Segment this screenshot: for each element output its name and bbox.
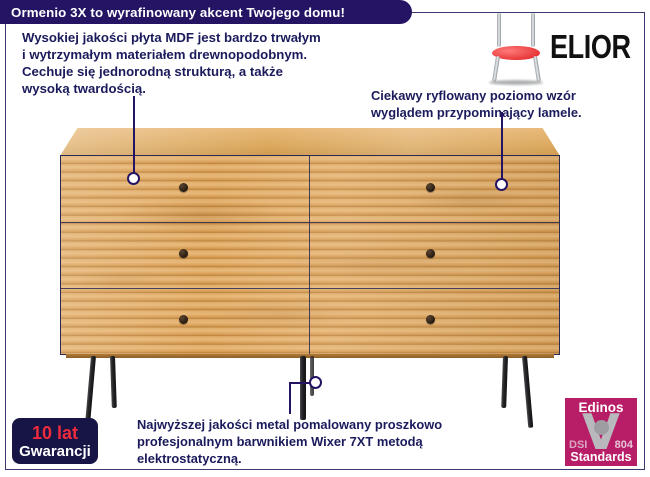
drawer-knob — [426, 249, 435, 258]
certificate-badge: Edinos V DSI 804 Standards — [565, 398, 637, 466]
product-image-dresser — [60, 128, 560, 368]
header-banner-text: Ormenio 3X to wyrafinowany akcent Twojeg… — [0, 5, 345, 20]
certificate-dot-mark — [594, 420, 609, 435]
chair-shadow — [489, 80, 543, 85]
callout-leader-metal-vertical — [289, 382, 291, 414]
warranty-years: 10 lat — [32, 424, 78, 442]
drawer-column-divider — [309, 156, 310, 354]
certificate-caption: Standards — [565, 450, 637, 464]
chair-icon — [486, 13, 550, 85]
surface-sheen — [61, 156, 559, 354]
drawer-seam — [61, 288, 559, 289]
chair-front-leg-left — [492, 56, 500, 82]
brand-logo: ELIOR — [484, 12, 644, 88]
callout-text-metal: Najwyższej jakości metal pomalowany pros… — [137, 417, 537, 467]
drawer-knob — [179, 249, 188, 258]
drawer-knob — [179, 183, 188, 192]
callout-text-mdf: Wysokiej jakości płyta MDF jest bardzo t… — [22, 29, 422, 98]
header-banner: Ormenio 3X to wyrafinowany akcent Twojeg… — [0, 0, 412, 24]
dresser-top-highlight — [60, 128, 560, 156]
brand-wordmark: ELIOR — [550, 28, 631, 66]
callout-marker-mdf — [127, 172, 140, 185]
callout-marker-metal — [309, 376, 322, 389]
callout-leader-metal-horizontal — [289, 382, 311, 384]
infographic-canvas: Wysokiej jakości płyta MDF jest bardzo t… — [0, 0, 650, 477]
drawer-knob — [179, 315, 188, 324]
chair-backrest — [499, 15, 532, 45]
dresser-leg — [110, 356, 117, 408]
callout-text-lamele: Ciekawy ryflowany poziomo wzór wyglądem … — [371, 88, 646, 122]
callout-leader-mdf — [133, 96, 135, 174]
callout-leader-lamele — [501, 112, 503, 180]
chair-front-leg-right — [533, 56, 541, 82]
callout-marker-lamele — [495, 178, 508, 191]
drawer-knob — [426, 315, 435, 324]
dresser-front-body — [60, 155, 560, 355]
drawer-knob — [426, 183, 435, 192]
warranty-label: Gwarancji — [19, 444, 91, 459]
drawer-seam — [61, 222, 559, 223]
warranty-badge: 10 lat Gwarancji — [12, 418, 98, 464]
dresser-leg — [300, 356, 306, 420]
